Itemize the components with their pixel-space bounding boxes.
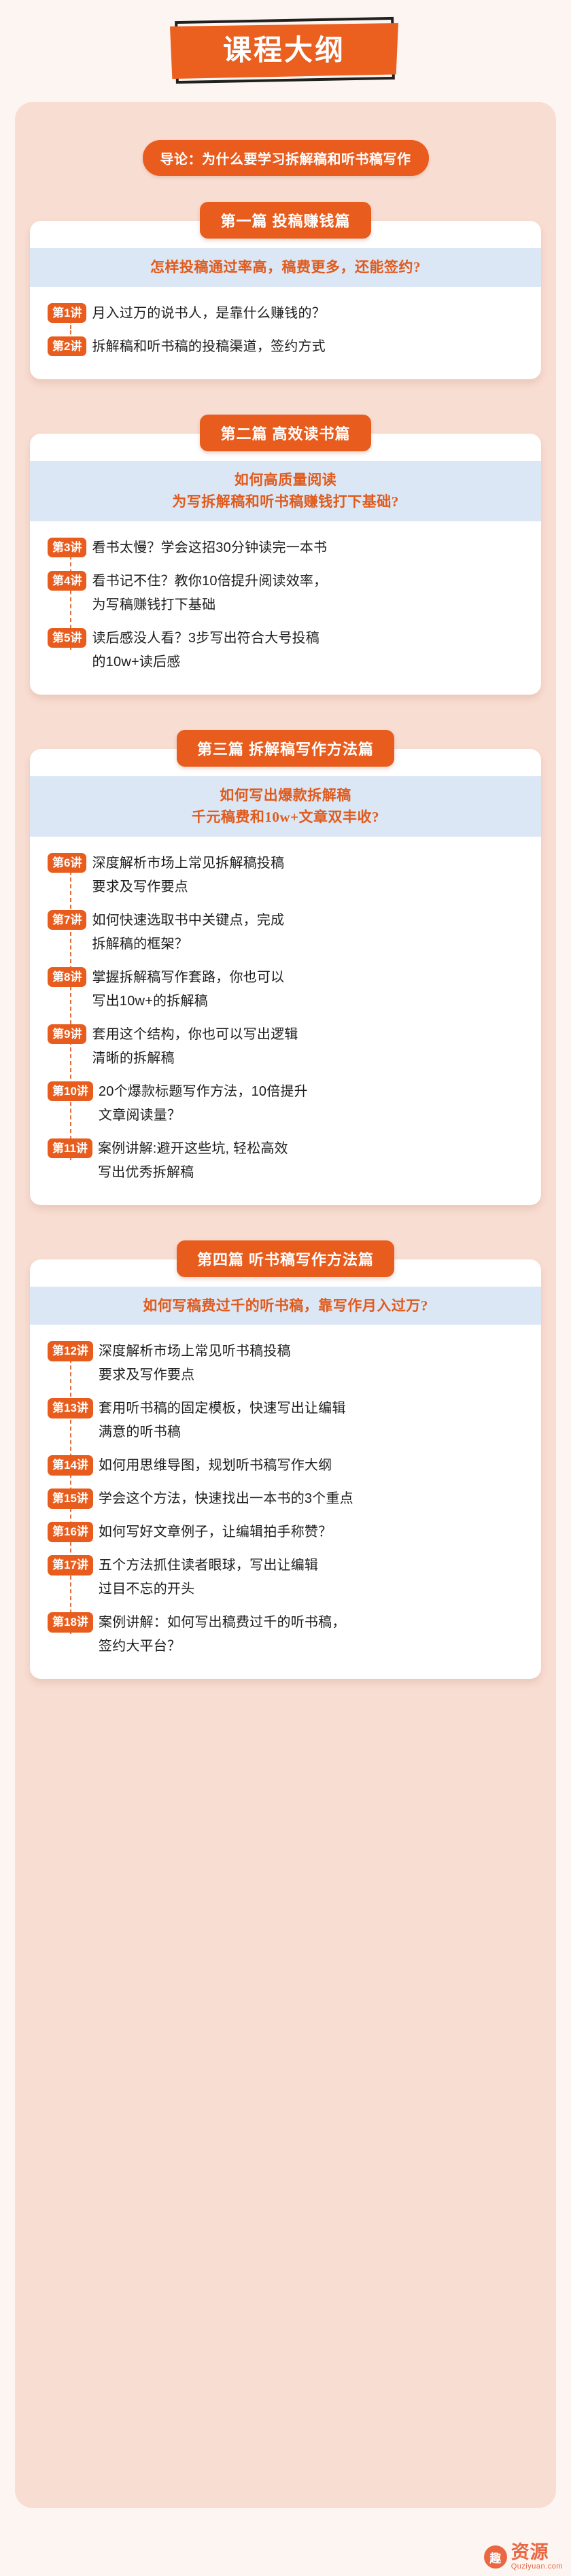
lesson-title-line: 学会这个方法，快速找出一本书的3个重点: [99, 1487, 353, 1511]
lesson-number-badge: 第11讲: [48, 1138, 92, 1158]
lesson-title-line: 深度解析市场上常见听书稿投稿: [99, 1340, 291, 1363]
lesson-number-badge: 第5讲: [48, 628, 86, 648]
lesson-row[interactable]: 第10讲20个爆款标题写作方法，10倍提升文章阅读量？: [48, 1080, 529, 1128]
lesson-title: 读后感没人看？3步写出符合大号投稿的10w+读后感: [92, 627, 319, 674]
lesson-number-badge: 第14讲: [48, 1455, 93, 1475]
lesson-title-line: 的10w+读后感: [92, 650, 319, 674]
intro-pill[interactable]: 导论：为什么要学习拆解稿和听书稿写作: [143, 140, 429, 176]
content-column: 导论：为什么要学习拆解稿和听书稿写作 第一篇 投稿赚钱篇怎样投稿通过率高，稿费更…: [0, 102, 571, 1679]
lesson-title: 如何写好文章例子，让编辑拍手称赞？: [99, 1520, 332, 1544]
lesson-list: 第1讲月入过万的说书人，是靠什么赚钱的？第2讲拆解稿和听书稿的投稿渠道，签约方式: [30, 287, 541, 362]
lesson-title-line: 看书太慢？学会这招30分钟读完一本书: [92, 536, 327, 560]
lesson-number-badge: 第6讲: [48, 853, 86, 873]
page-title: 课程大纲: [223, 36, 345, 65]
section: 第三篇 拆解稿写作方法篇如何写出爆款拆解稿千元稿费和10w+文章双丰收?第6讲深…: [30, 730, 541, 1205]
lesson-row[interactable]: 第5讲读后感没人看？3步写出符合大号投稿的10w+读后感: [48, 627, 529, 674]
lesson-number-badge: 第2讲: [48, 336, 86, 356]
section-header: 第三篇 拆解稿写作方法篇: [30, 730, 541, 767]
lesson-row[interactable]: 第6讲深度解析市场上常见拆解稿投稿要求及写作要点: [48, 852, 529, 899]
lesson-list: 第6讲深度解析市场上常见拆解稿投稿要求及写作要点第7讲如何快速选取书中关键点，完…: [30, 837, 541, 1187]
section-header-pill[interactable]: 第四篇 听书稿写作方法篇: [177, 1240, 394, 1277]
section-subtitle-line: 如何写稿费过千的听书稿，靠写作月入过万?: [39, 1295, 532, 1317]
lesson-number-badge: 第7讲: [48, 910, 86, 930]
title-banner-area: 课程大纲: [0, 0, 571, 102]
lesson-title-line: 套用听书稿的固定模板，快速写出让编辑: [99, 1397, 346, 1421]
lesson-row[interactable]: 第18讲案例讲解：如何写出稿费过千的听书稿，签约大平台？: [48, 1611, 529, 1658]
section-header-pill[interactable]: 第二篇 高效读书篇: [200, 415, 370, 451]
lesson-title-line: 为写稿赚钱打下基础: [92, 593, 327, 617]
section-subtitle-line: 千元稿费和10w+文章双丰收?: [39, 806, 532, 829]
lesson-number-badge: 第17讲: [48, 1555, 93, 1575]
lesson-title-line: 五个方法抓住读者眼球，写出让编辑: [99, 1554, 318, 1578]
watermark-site: Quziyuan.com: [511, 2563, 563, 2571]
section-subtitle-band: 如何写稿费过千的听书稿，靠写作月入过万?: [30, 1287, 541, 1325]
lesson-number-badge: 第13讲: [48, 1398, 93, 1418]
lesson-title-line: 如何用思维导图，规划听书稿写作大纲: [99, 1454, 332, 1478]
lesson-title: 学会这个方法，快速找出一本书的3个重点: [99, 1487, 353, 1511]
lesson-number-badge: 第8讲: [48, 967, 86, 987]
lesson-number-badge: 第16讲: [48, 1522, 93, 1542]
lesson-number-badge: 第10讲: [48, 1081, 93, 1101]
lesson-title-line: 如何写好文章例子，让编辑拍手称赞？: [99, 1520, 332, 1544]
lesson-row[interactable]: 第11讲案例讲解:避开这些坑, 轻松高效写出优秀拆解稿: [48, 1137, 529, 1185]
section-header: 第一篇 投稿赚钱篇: [30, 202, 541, 239]
lesson-title: 20个爆款标题写作方法，10倍提升文章阅读量？: [99, 1080, 308, 1128]
lesson-title-line: 掌握拆解稿写作套路，你也可以: [92, 966, 284, 990]
lesson-row[interactable]: 第17讲五个方法抓住读者眼球，写出让编辑过目不忘的开头: [48, 1554, 529, 1601]
lesson-row[interactable]: 第2讲拆解稿和听书稿的投稿渠道，签约方式: [48, 335, 529, 359]
section: 第一篇 投稿赚钱篇怎样投稿通过率高，稿费更多，还能签约?第1讲月入过万的说书人，…: [30, 202, 541, 379]
title-banner: 课程大纲: [170, 18, 401, 84]
lesson-row[interactable]: 第7讲如何快速选取书中关键点，完成拆解稿的框架？: [48, 909, 529, 956]
lesson-number-badge: 第1讲: [48, 303, 86, 323]
section-header-pill[interactable]: 第三篇 拆解稿写作方法篇: [177, 730, 394, 767]
title-orange-shape: 课程大纲: [170, 23, 398, 79]
lesson-row[interactable]: 第16讲如何写好文章例子，让编辑拍手称赞？: [48, 1520, 529, 1544]
lesson-title-line: 案例讲解:避开这些坑, 轻松高效: [98, 1137, 288, 1161]
lesson-title: 五个方法抓住读者眼球，写出让编辑过目不忘的开头: [99, 1554, 318, 1601]
section-subtitle-band: 怎样投稿通过率高，稿费更多，还能签约?: [30, 248, 541, 287]
lesson-title-line: 如何快速选取书中关键点，完成: [92, 909, 284, 933]
lesson-title-line: 满意的听书稿: [99, 1421, 346, 1444]
section-subtitle-line: 为写拆解稿和听书稿赚钱打下基础?: [39, 491, 532, 513]
lesson-title: 月入过万的说书人，是靠什么赚钱的？: [92, 302, 325, 326]
lesson-title-line: 20个爆款标题写作方法，10倍提升: [99, 1080, 308, 1104]
lesson-number-badge: 第12讲: [48, 1341, 93, 1361]
section-card: 怎样投稿通过率高，稿费更多，还能签约?第1讲月入过万的说书人，是靠什么赚钱的？第…: [30, 221, 541, 379]
watermark-text: 资源 Quziyuan.com: [511, 2543, 563, 2571]
lesson-title: 深度解析市场上常见拆解稿投稿要求及写作要点: [92, 852, 284, 899]
lesson-number-badge: 第18讲: [48, 1612, 93, 1632]
lesson-title: 如何用思维导图，规划听书稿写作大纲: [99, 1454, 332, 1478]
section-card: 如何写出爆款拆解稿千元稿费和10w+文章双丰收?第6讲深度解析市场上常见拆解稿投…: [30, 749, 541, 1205]
section: 第四篇 听书稿写作方法篇如何写稿费过千的听书稿，靠写作月入过万?第12讲深度解析…: [30, 1240, 541, 1679]
lesson-number-badge: 第3讲: [48, 538, 86, 557]
section-subtitle-line: 怎样投稿通过率高，稿费更多，还能签约?: [39, 256, 532, 279]
course-outline-page: 课程大纲 导论：为什么要学习拆解稿和听书稿写作 第一篇 投稿赚钱篇怎样投稿通过率…: [0, 0, 571, 2576]
lesson-title-line: 要求及写作要点: [99, 1363, 291, 1387]
lesson-title: 掌握拆解稿写作套路，你也可以写出10w+的拆解稿: [92, 966, 284, 1013]
section-header: 第二篇 高效读书篇: [30, 415, 541, 451]
lesson-title-line: 月入过万的说书人，是靠什么赚钱的？: [92, 302, 325, 326]
section-subtitle-band: 如何写出爆款拆解稿千元稿费和10w+文章双丰收?: [30, 776, 541, 837]
lesson-title-line: 套用这个结构，你也可以写出逻辑: [92, 1023, 298, 1047]
lesson-title: 套用听书稿的固定模板，快速写出让编辑满意的听书稿: [99, 1397, 346, 1444]
lesson-title-line: 过目不忘的开头: [99, 1578, 318, 1601]
lesson-title-line: 写出优秀拆解稿: [98, 1161, 288, 1185]
lesson-title-line: 清晰的拆解稿: [92, 1047, 298, 1071]
lesson-title: 如何快速选取书中关键点，完成拆解稿的框架？: [92, 909, 284, 956]
lesson-row[interactable]: 第1讲月入过万的说书人，是靠什么赚钱的？: [48, 302, 529, 326]
lesson-title: 套用这个结构，你也可以写出逻辑清晰的拆解稿: [92, 1023, 298, 1071]
watermark-logo-icon: 趣: [484, 2545, 507, 2569]
lesson-row[interactable]: 第13讲套用听书稿的固定模板，快速写出让编辑满意的听书稿: [48, 1397, 529, 1444]
lesson-number-badge: 第15讲: [48, 1489, 93, 1508]
lesson-title-line: 深度解析市场上常见拆解稿投稿: [92, 852, 284, 875]
lesson-title-line: 案例讲解：如何写出稿费过千的听书稿，: [99, 1611, 346, 1635]
lesson-row[interactable]: 第15讲学会这个方法，快速找出一本书的3个重点: [48, 1487, 529, 1511]
lesson-title-line: 要求及写作要点: [92, 875, 284, 899]
lesson-title: 看书记不住？教你10倍提升阅读效率，为写稿赚钱打下基础: [92, 570, 327, 617]
lesson-title-line: 签约大平台？: [99, 1635, 346, 1658]
lesson-title-line: 写出10w+的拆解稿: [92, 990, 284, 1013]
lesson-row[interactable]: 第4讲看书记不住？教你10倍提升阅读效率，为写稿赚钱打下基础: [48, 570, 529, 617]
section-header: 第四篇 听书稿写作方法篇: [30, 1240, 541, 1277]
lesson-number-badge: 第4讲: [48, 571, 86, 591]
section-header-pill[interactable]: 第一篇 投稿赚钱篇: [200, 202, 370, 239]
section-card: 如何高质量阅读为写拆解稿和听书稿赚钱打下基础?第3讲看书太慢？学会这招30分钟读…: [30, 434, 541, 695]
intro-zone: 导论：为什么要学习拆解稿和听书稿写作: [30, 102, 541, 202]
lesson-row[interactable]: 第3讲看书太慢？学会这招30分钟读完一本书: [48, 536, 529, 560]
lesson-title: 案例讲解：如何写出稿费过千的听书稿，签约大平台？: [99, 1611, 346, 1658]
lesson-list: 第3讲看书太慢？学会这招30分钟读完一本书第4讲看书记不住？教你10倍提升阅读效…: [30, 521, 541, 677]
lesson-row[interactable]: 第9讲套用这个结构，你也可以写出逻辑清晰的拆解稿: [48, 1023, 529, 1071]
lesson-row[interactable]: 第14讲如何用思维导图，规划听书稿写作大纲: [48, 1454, 529, 1478]
lesson-list: 第12讲深度解析市场上常见听书稿投稿要求及写作要点第13讲套用听书稿的固定模板，…: [30, 1325, 541, 1661]
lesson-row[interactable]: 第8讲掌握拆解稿写作套路，你也可以写出10w+的拆解稿: [48, 966, 529, 1013]
lesson-title-line: 拆解稿的框架？: [92, 933, 284, 956]
lesson-title-line: 看书记不住？教你10倍提升阅读效率，: [92, 570, 327, 593]
sections-list: 第一篇 投稿赚钱篇怎样投稿通过率高，稿费更多，还能签约?第1讲月入过万的说书人，…: [30, 202, 541, 1679]
lesson-title: 看书太慢？学会这招30分钟读完一本书: [92, 536, 327, 560]
lesson-title-line: 读后感没人看？3步写出符合大号投稿: [92, 627, 319, 650]
lesson-row[interactable]: 第12讲深度解析市场上常见听书稿投稿要求及写作要点: [48, 1340, 529, 1387]
section-subtitle-line: 如何高质量阅读: [39, 469, 532, 491]
lesson-title: 深度解析市场上常见听书稿投稿要求及写作要点: [99, 1340, 291, 1387]
lesson-title: 拆解稿和听书稿的投稿渠道，签约方式: [92, 335, 325, 359]
watermark: 趣 资源 Quziyuan.com: [484, 2543, 563, 2571]
section-subtitle-line: 如何写出爆款拆解稿: [39, 784, 532, 807]
lesson-number-badge: 第9讲: [48, 1024, 86, 1044]
section-subtitle-band: 如何高质量阅读为写拆解稿和听书稿赚钱打下基础?: [30, 461, 541, 521]
section-card: 如何写稿费过千的听书稿，靠写作月入过万?第12讲深度解析市场上常见听书稿投稿要求…: [30, 1259, 541, 1679]
lesson-title: 案例讲解:避开这些坑, 轻松高效写出优秀拆解稿: [98, 1137, 288, 1185]
section: 第二篇 高效读书篇如何高质量阅读为写拆解稿和听书稿赚钱打下基础?第3讲看书太慢？…: [30, 415, 541, 695]
lesson-title-line: 拆解稿和听书稿的投稿渠道，签约方式: [92, 335, 325, 359]
watermark-name: 资源: [511, 2543, 563, 2562]
lesson-title-line: 文章阅读量？: [99, 1104, 308, 1128]
